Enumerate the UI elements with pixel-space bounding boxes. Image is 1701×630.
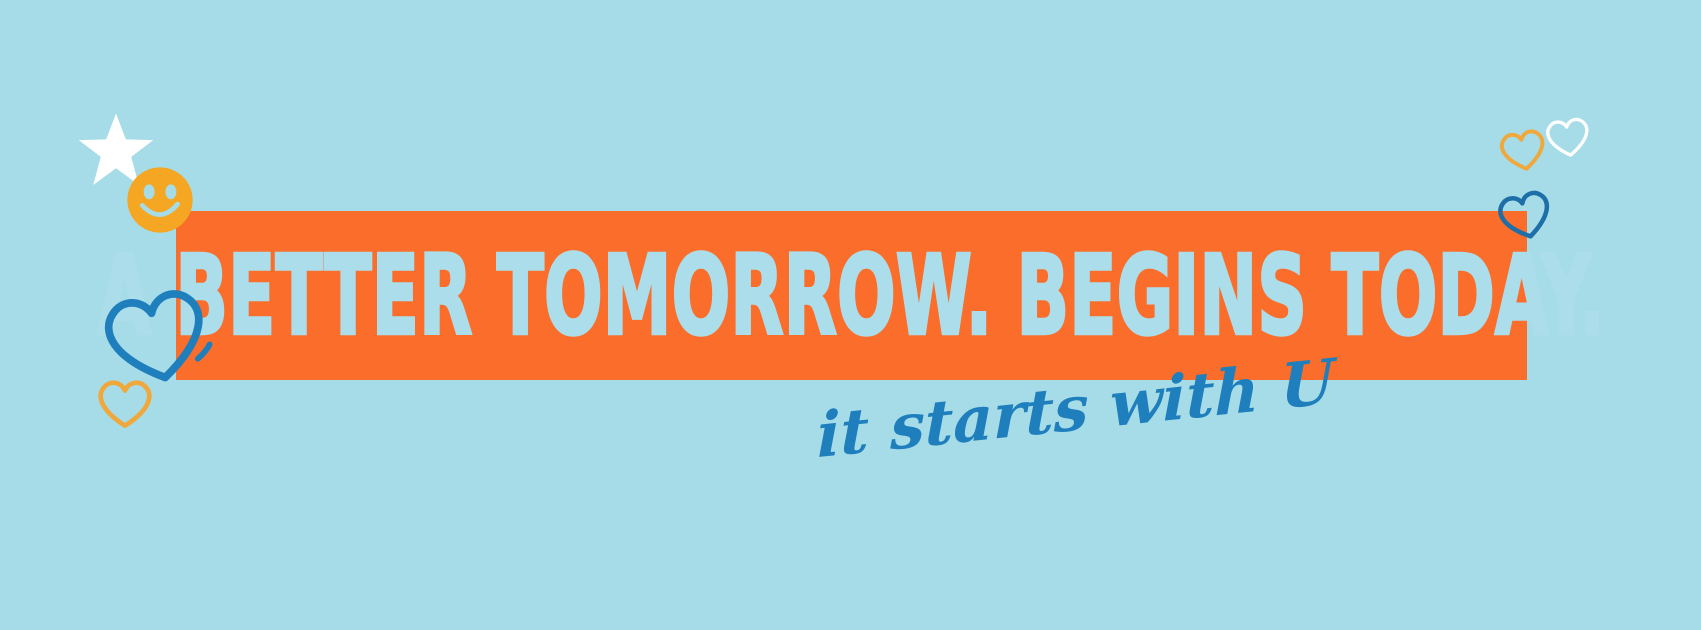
promotional-banner: A BETTER TOMORROW. BEGINS TODAY. it star… bbox=[0, 0, 1701, 630]
star-icon bbox=[78, 112, 154, 188]
page-title: A BETTER TOMORROW. BEGINS TODAY. bbox=[314, 199, 1389, 392]
headline-band: A BETTER TOMORROW. BEGINS TODAY. bbox=[176, 211, 1527, 380]
heart-outline-icon bbox=[94, 372, 156, 430]
heart-outline-icon bbox=[1543, 112, 1593, 160]
heart-outline-icon bbox=[1497, 124, 1549, 174]
